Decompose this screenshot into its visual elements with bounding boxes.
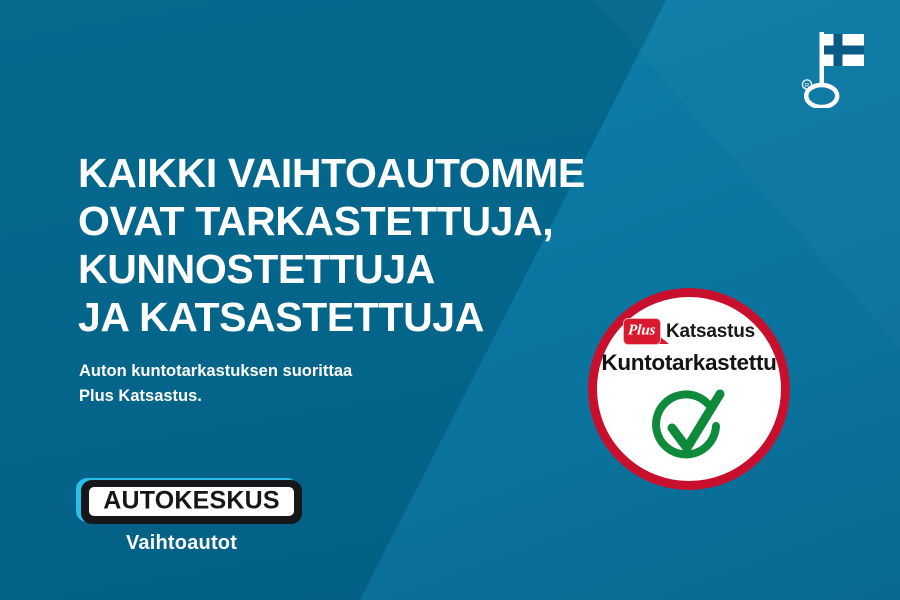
- license-plate-logo: AUTOKESKUS: [76, 478, 302, 524]
- finnish-key-flag-icon: R Avainlippu: [786, 26, 864, 108]
- subcopy: Auton kuntotarkastuksen suorittaa Plus K…: [79, 359, 509, 409]
- plate-inner-field: AUTOKESKUS: [87, 485, 296, 518]
- badge-brand-row: Plus Katsastus: [623, 317, 755, 345]
- plate-brand-text: AUTOKESKUS: [103, 489, 280, 514]
- badge-title: Kuntotarkastettu: [601, 352, 776, 375]
- headline-line-1: KAIKKI VAIHTOAUTOMME: [78, 149, 698, 197]
- headline-line-2: OVAT TARKASTETTUJA,: [78, 197, 698, 245]
- promo-banner: R Avainlippu KAIKKI VAIHTOAUTOMME OVAT T…: [0, 0, 900, 600]
- plus-logo-text: Plus: [628, 323, 657, 338]
- kuntotarkastettu-badge: Plus Katsastus Kuntotarkastettu: [588, 288, 790, 490]
- headline-line-3: KUNNOSTETTUJA: [78, 245, 698, 293]
- headline: KAIKKI VAIHTOAUTOMME OVAT TARKASTETTUJA,…: [78, 149, 698, 341]
- logo-tagline: Vaihtoautot: [126, 532, 237, 555]
- plus-logo-icon: Plus: [623, 318, 661, 345]
- badge-brand-name: Katsastus: [666, 322, 755, 341]
- green-check-circle-icon: [646, 386, 732, 466]
- subcopy-line-2: Plus Katsastus.: [79, 384, 509, 409]
- subcopy-line-1: Auton kuntotarkastuksen suorittaa: [79, 359, 509, 384]
- autokeskus-logo[interactable]: AUTOKESKUS Vaihtoautot: [76, 478, 316, 560]
- plus-logo-box: Plus: [623, 318, 661, 345]
- svg-text:R: R: [805, 83, 810, 89]
